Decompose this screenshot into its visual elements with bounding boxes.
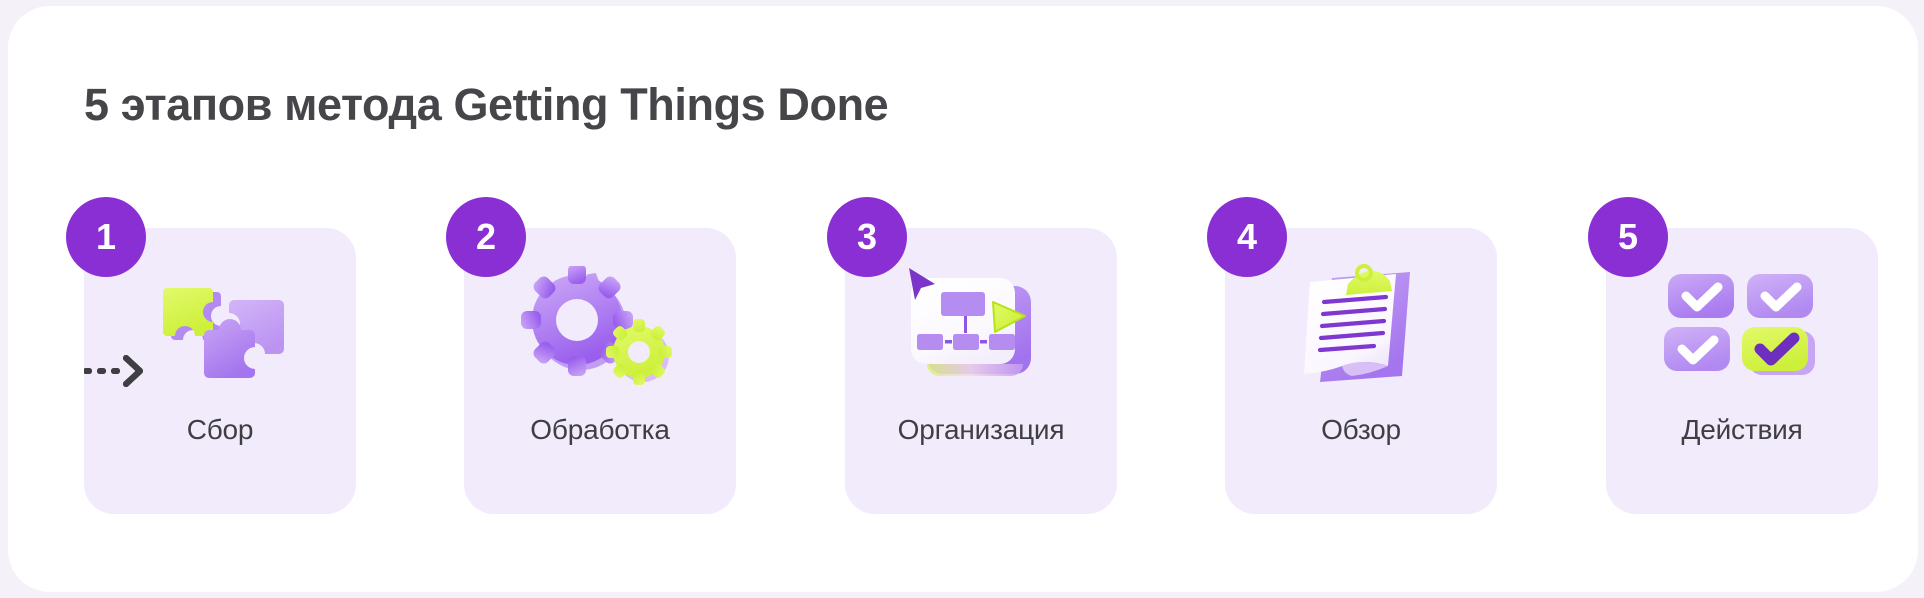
step-label: Обзор [1225, 414, 1497, 446]
step-number-badge: 2 [446, 197, 526, 277]
infographic-page: 5 этапов метода Getting Things Done 1 [0, 0, 1924, 598]
page-title: 5 этапов метода Getting Things Done [84, 79, 888, 131]
step-number-badge: 3 [827, 197, 907, 277]
steps-row: 1 [84, 228, 1874, 518]
gears-icon [464, 258, 736, 398]
flowchart-diagram-icon [845, 258, 1117, 398]
step-label: Сбор [84, 414, 356, 446]
step-label: Обработка [464, 414, 736, 446]
dashed-arrow-right-icon [84, 354, 148, 388]
step-label: Организация [845, 414, 1117, 446]
step-item[interactable]: 4 [1225, 228, 1497, 514]
content-panel: 5 этапов метода Getting Things Done 1 [8, 6, 1918, 592]
step-item[interactable]: 2 [464, 228, 736, 514]
step-number-badge: 4 [1207, 197, 1287, 277]
clipboard-document-icon [1225, 258, 1497, 398]
checkbox-grid-icon [1606, 258, 1878, 398]
step-item[interactable]: 3 [845, 228, 1117, 514]
step-number-badge: 1 [66, 197, 146, 277]
step-item[interactable]: 5 [1606, 228, 1878, 514]
step-number-badge: 5 [1588, 197, 1668, 277]
step-label: Действия [1606, 414, 1878, 446]
